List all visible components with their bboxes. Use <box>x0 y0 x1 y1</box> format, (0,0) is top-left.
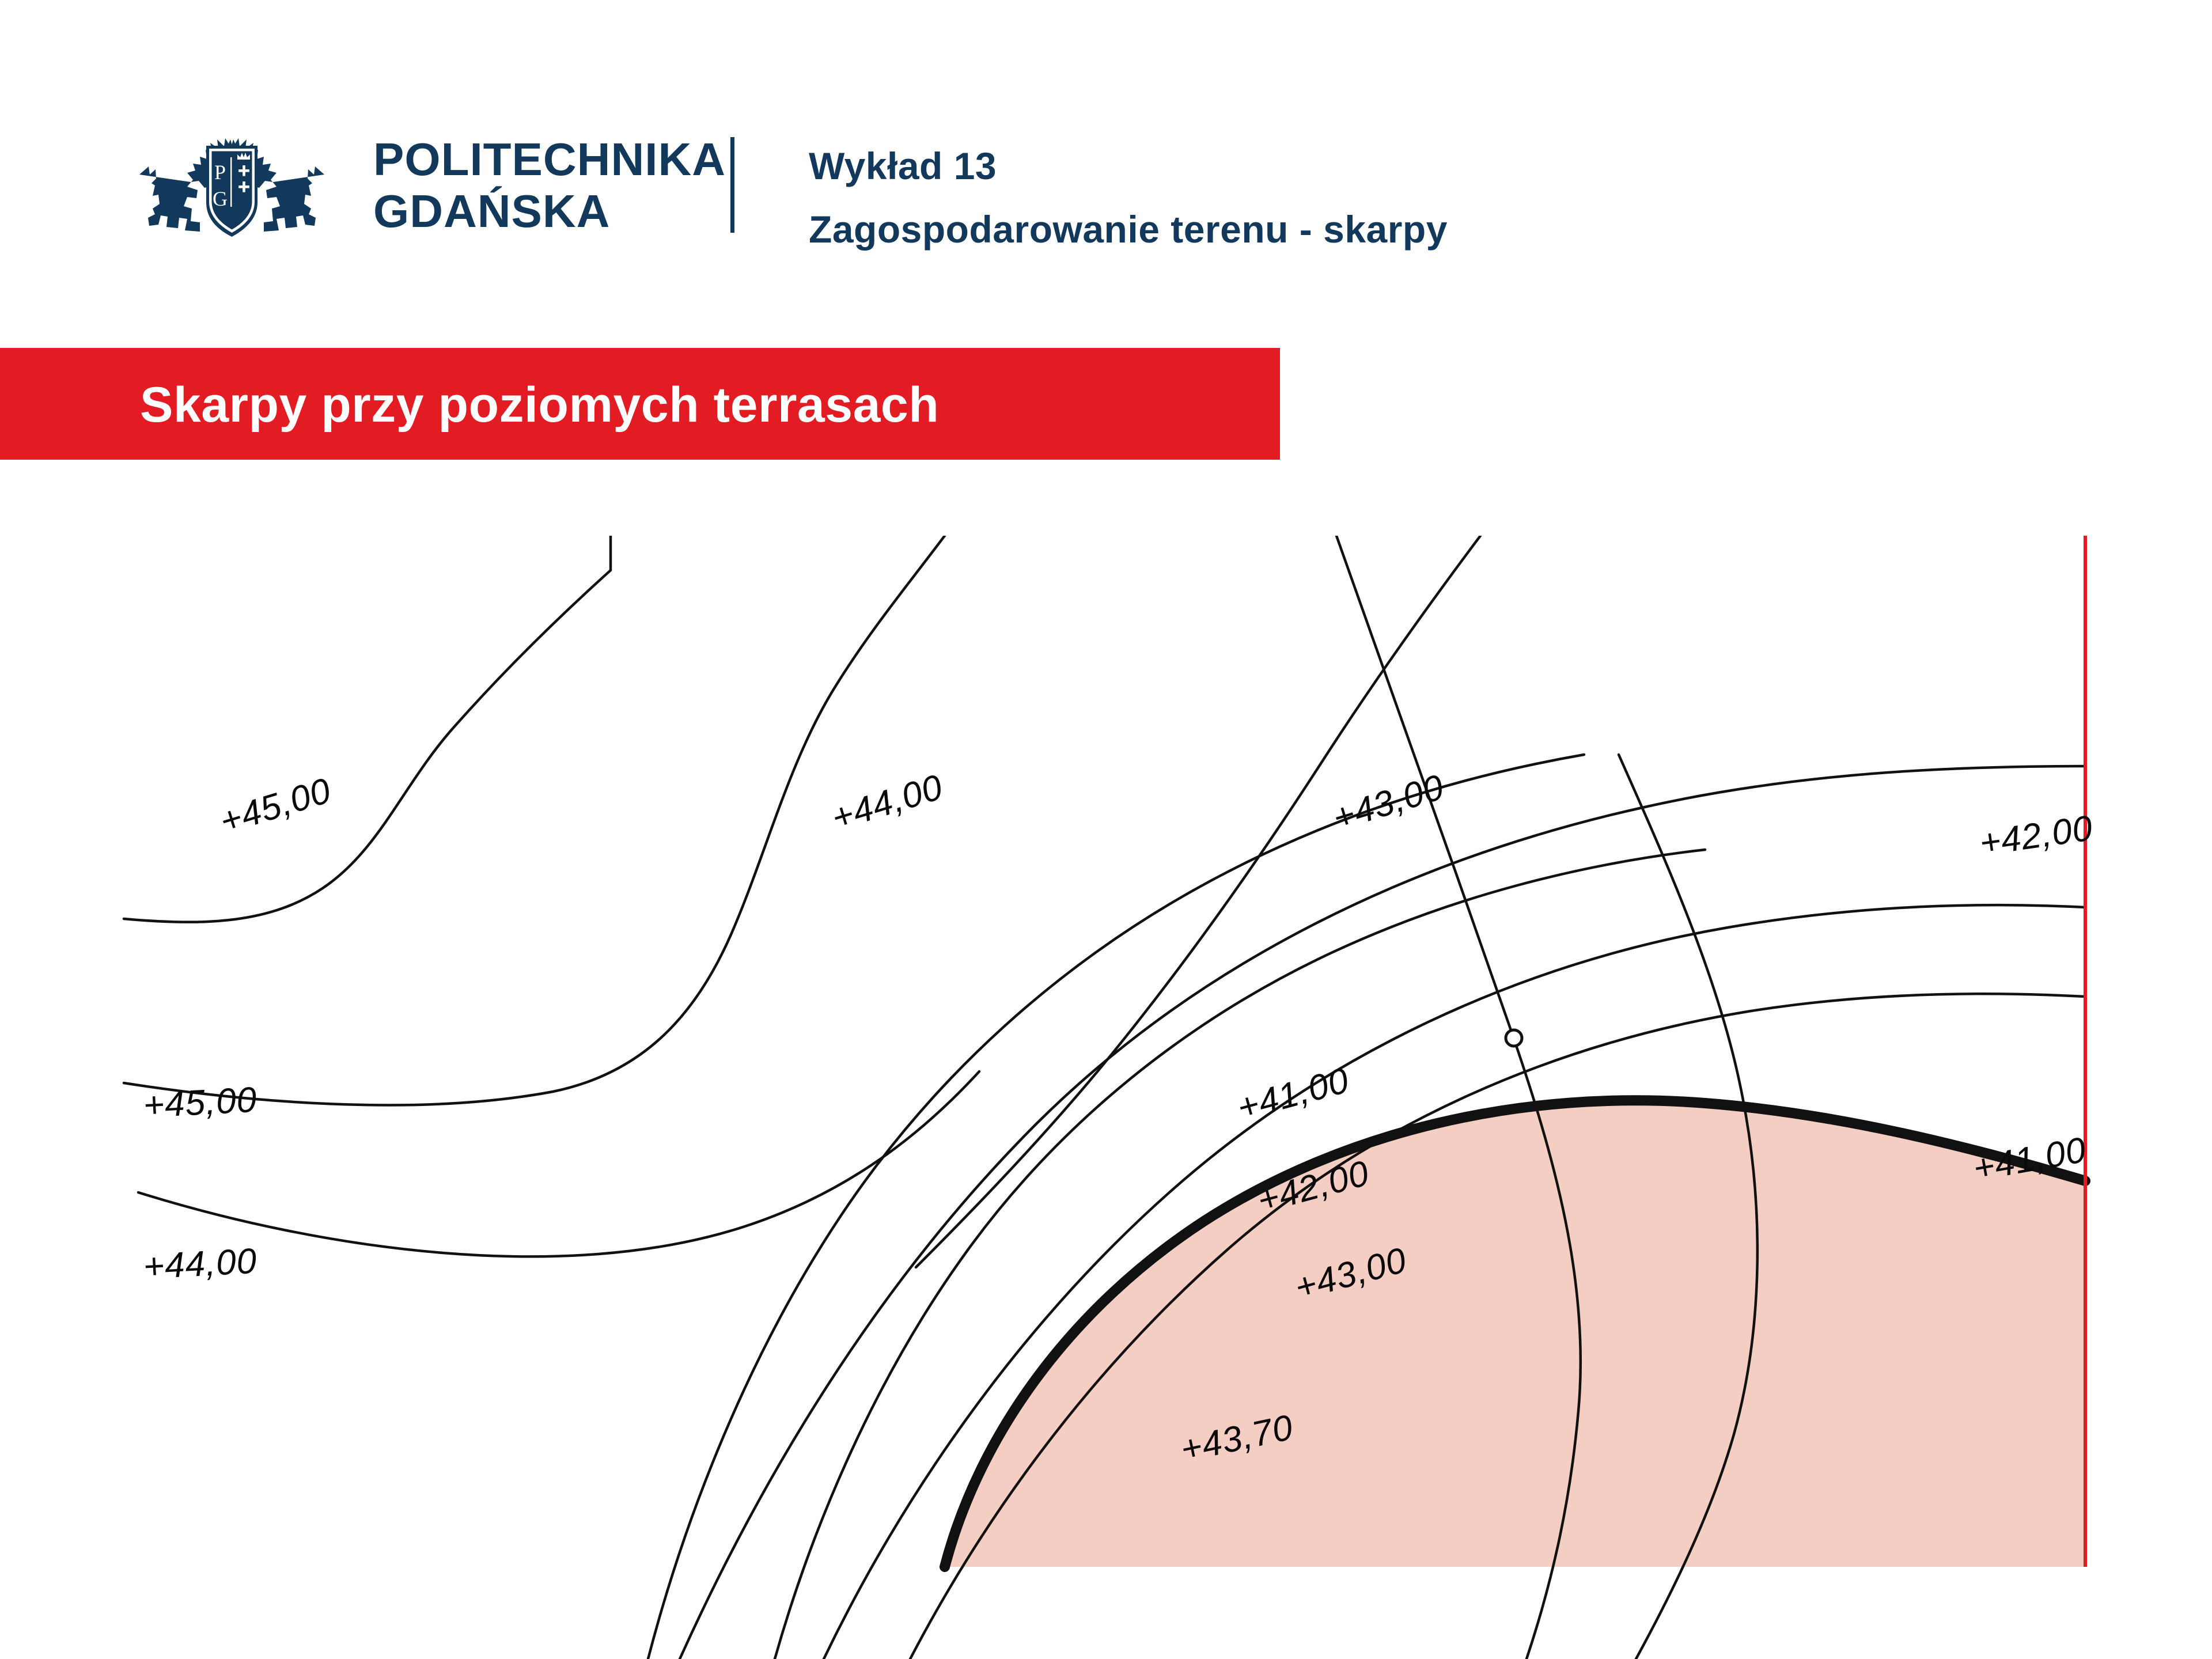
section-title: Skarpy przy poziomych terrasach <box>140 377 939 434</box>
svg-text:P: P <box>214 161 226 184</box>
vertical-divider-icon <box>730 137 734 233</box>
contour-45-00 <box>124 536 611 922</box>
elevation-label: +44,00 <box>827 767 948 839</box>
elevation-label: +45,00 <box>215 771 336 842</box>
elevation-label: +43,00 <box>1328 767 1449 839</box>
elevation-label: +41,00 <box>1233 1060 1353 1128</box>
politechnika-gdanska-crest-icon: P G <box>132 124 331 256</box>
svg-text:G: G <box>213 187 228 210</box>
intersection-point-marker <box>1506 1030 1522 1046</box>
contour-map-svg: +45,00 +44,00 +43,00 +42,00 +45,00 +41,0… <box>0 536 2212 1659</box>
elevation-label: +44,00 <box>142 1241 258 1287</box>
lecture-number: Wykład 13 <box>809 144 1448 188</box>
lecture-title-block: Wykład 13 Zagospodarowanie terenu - skar… <box>809 144 1448 251</box>
slide-header: P G POLITECHNIKA GDAŃSKA Wykład 13 Zagos… <box>0 0 2212 323</box>
elevation-label: +45,00 <box>142 1080 258 1126</box>
contour-map-figure: +45,00 +44,00 +43,00 +42,00 +45,00 +41,0… <box>0 536 2212 1659</box>
elevation-label: +42,00 <box>1977 808 2095 863</box>
terrace-fill-region <box>945 1100 2085 1567</box>
pg-wordmark: POLITECHNIKA GDAŃSKA <box>373 134 726 237</box>
lecture-subject: Zagospodarowanie terenu - skarpy <box>809 207 1448 251</box>
section-title-banner: Skarpy przy poziomych terrasach <box>0 348 1280 460</box>
